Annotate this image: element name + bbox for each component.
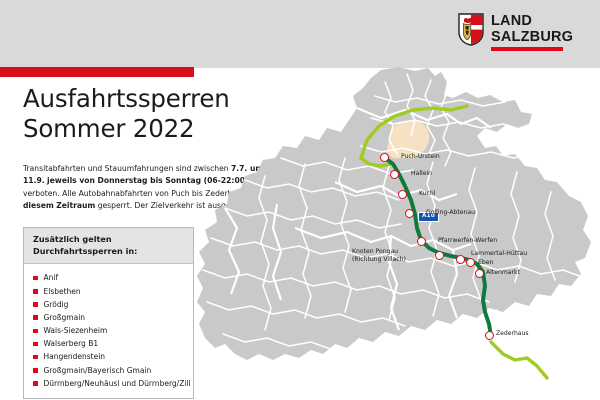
list-item: Dürrnberg/Neuhäusl und Dürrnberg/Zill — [33, 377, 187, 390]
bullet-icon — [33, 329, 38, 334]
intro-emph-2: Zeitraum — [56, 201, 95, 210]
list-item-label: Grödig — [44, 301, 69, 309]
list-item-label: Großgmain/Bayerisch Gmain — [44, 367, 152, 375]
exit-node-pfarrwerfen-werfen[interactable] — [417, 237, 426, 246]
map-label-knoten-pongau: Knoten Pongau (Richtung Villach) — [352, 248, 406, 264]
list-item: Hangendenstein — [33, 351, 187, 364]
map-label-kuchl: Kuchl — [419, 190, 435, 198]
land-salzburg-logo: LAND SALZBURG — [458, 13, 573, 53]
intro-text-2: verboten. — [23, 189, 60, 198]
closure-list: Anif Elsbethen Grödig Großgmain Wals-Sie… — [24, 264, 193, 398]
exit-node-altenmarkt[interactable] — [475, 269, 484, 278]
list-item: Großgmain/Bayerisch Gmain — [33, 364, 187, 377]
map-label-pfarrwerfen-werfen: Pfarrwerfen-Werfen — [438, 237, 497, 245]
list-item-label: Dürrnberg/Neuhäusl und Dürrnberg/Zill — [44, 380, 191, 388]
list-item-label: Großgmain — [44, 314, 86, 322]
map-label-hallein: Hallein — [411, 170, 432, 178]
list-item-label: Walserberg B1 — [44, 340, 99, 348]
map-label-knoten-pongau-line-1: Knoten Pongau — [352, 248, 398, 255]
bullet-icon — [33, 302, 38, 307]
list-item: Großgmain — [33, 311, 187, 324]
additional-closures-box: Zusätzlich gelten Durchfahrtssperren in:… — [23, 227, 194, 399]
list-item-label: Hangendenstein — [44, 353, 106, 361]
exit-node-eben[interactable] — [466, 258, 475, 267]
list-item-label: Wals-Siezenheim — [44, 327, 108, 335]
list-item: Grödig — [33, 298, 187, 311]
exit-node-zederhaus[interactable] — [485, 331, 494, 340]
exit-node-puch-urstein[interactable] — [380, 153, 389, 162]
infographic-page: LAND SALZBURG Ausfahrtssperren Sommer 20… — [0, 0, 600, 400]
bullet-icon — [33, 381, 38, 386]
map-label-altenmarkt: Altenmarkt — [486, 269, 520, 277]
logo-line-salzburg: SALZBURG — [491, 30, 573, 45]
exit-node-lammertal-huettau[interactable] — [456, 255, 465, 264]
map-label-knoten-pongau-line-2: (Richtung Villach) — [352, 256, 406, 263]
box-heading: Zusätzlich gelten Durchfahrtssperren in: — [33, 234, 184, 257]
logo-underline — [491, 47, 563, 51]
bullet-icon — [33, 368, 38, 373]
exit-node-kuchl[interactable] — [398, 190, 407, 199]
map-label-lammertal-huettau: Lammertal-Hüttau — [471, 250, 527, 258]
salzburg-map: A10 Puch-Urstein Hallein Kuchl Golling-A… — [185, 62, 600, 400]
exit-node-hallein[interactable] — [390, 170, 399, 179]
exit-node-knoten-pongau[interactable] — [435, 251, 444, 260]
list-item: Wals-Siezenheim — [33, 324, 187, 337]
list-item-label: Elsbethen — [44, 288, 81, 296]
red-accent-bar — [0, 67, 194, 77]
bullet-icon — [33, 289, 38, 294]
bullet-icon — [33, 355, 38, 360]
box-heading-line-2: Durchfahrtssperren in: — [33, 246, 184, 258]
map-graphic — [185, 62, 600, 400]
salzburg-coat-of-arms-icon — [458, 13, 484, 46]
box-header: Zusätzlich gelten Durchfahrtssperren in: — [24, 228, 193, 264]
logo-line-land: LAND — [491, 14, 573, 29]
bullet-icon — [33, 315, 38, 320]
list-item: Anif — [33, 271, 187, 284]
map-label-zederhaus: Zederhaus — [496, 330, 529, 338]
box-heading-line-1: Zusätzlich gelten — [33, 234, 112, 244]
map-label-eben: Eben — [478, 259, 493, 267]
map-label-puch-urstein: Puch-Urstein — [401, 153, 440, 161]
logo-wordmark: LAND SALZBURG — [491, 13, 573, 51]
list-item: Walserberg B1 — [33, 337, 187, 350]
bullet-icon — [33, 342, 38, 347]
bullet-icon — [33, 276, 38, 281]
list-item: Elsbethen — [33, 285, 187, 298]
list-item-label: Anif — [44, 274, 59, 282]
map-label-golling-abtenau: Golling-Abtenau — [426, 209, 475, 217]
exit-node-golling-abtenau[interactable] — [405, 209, 414, 218]
